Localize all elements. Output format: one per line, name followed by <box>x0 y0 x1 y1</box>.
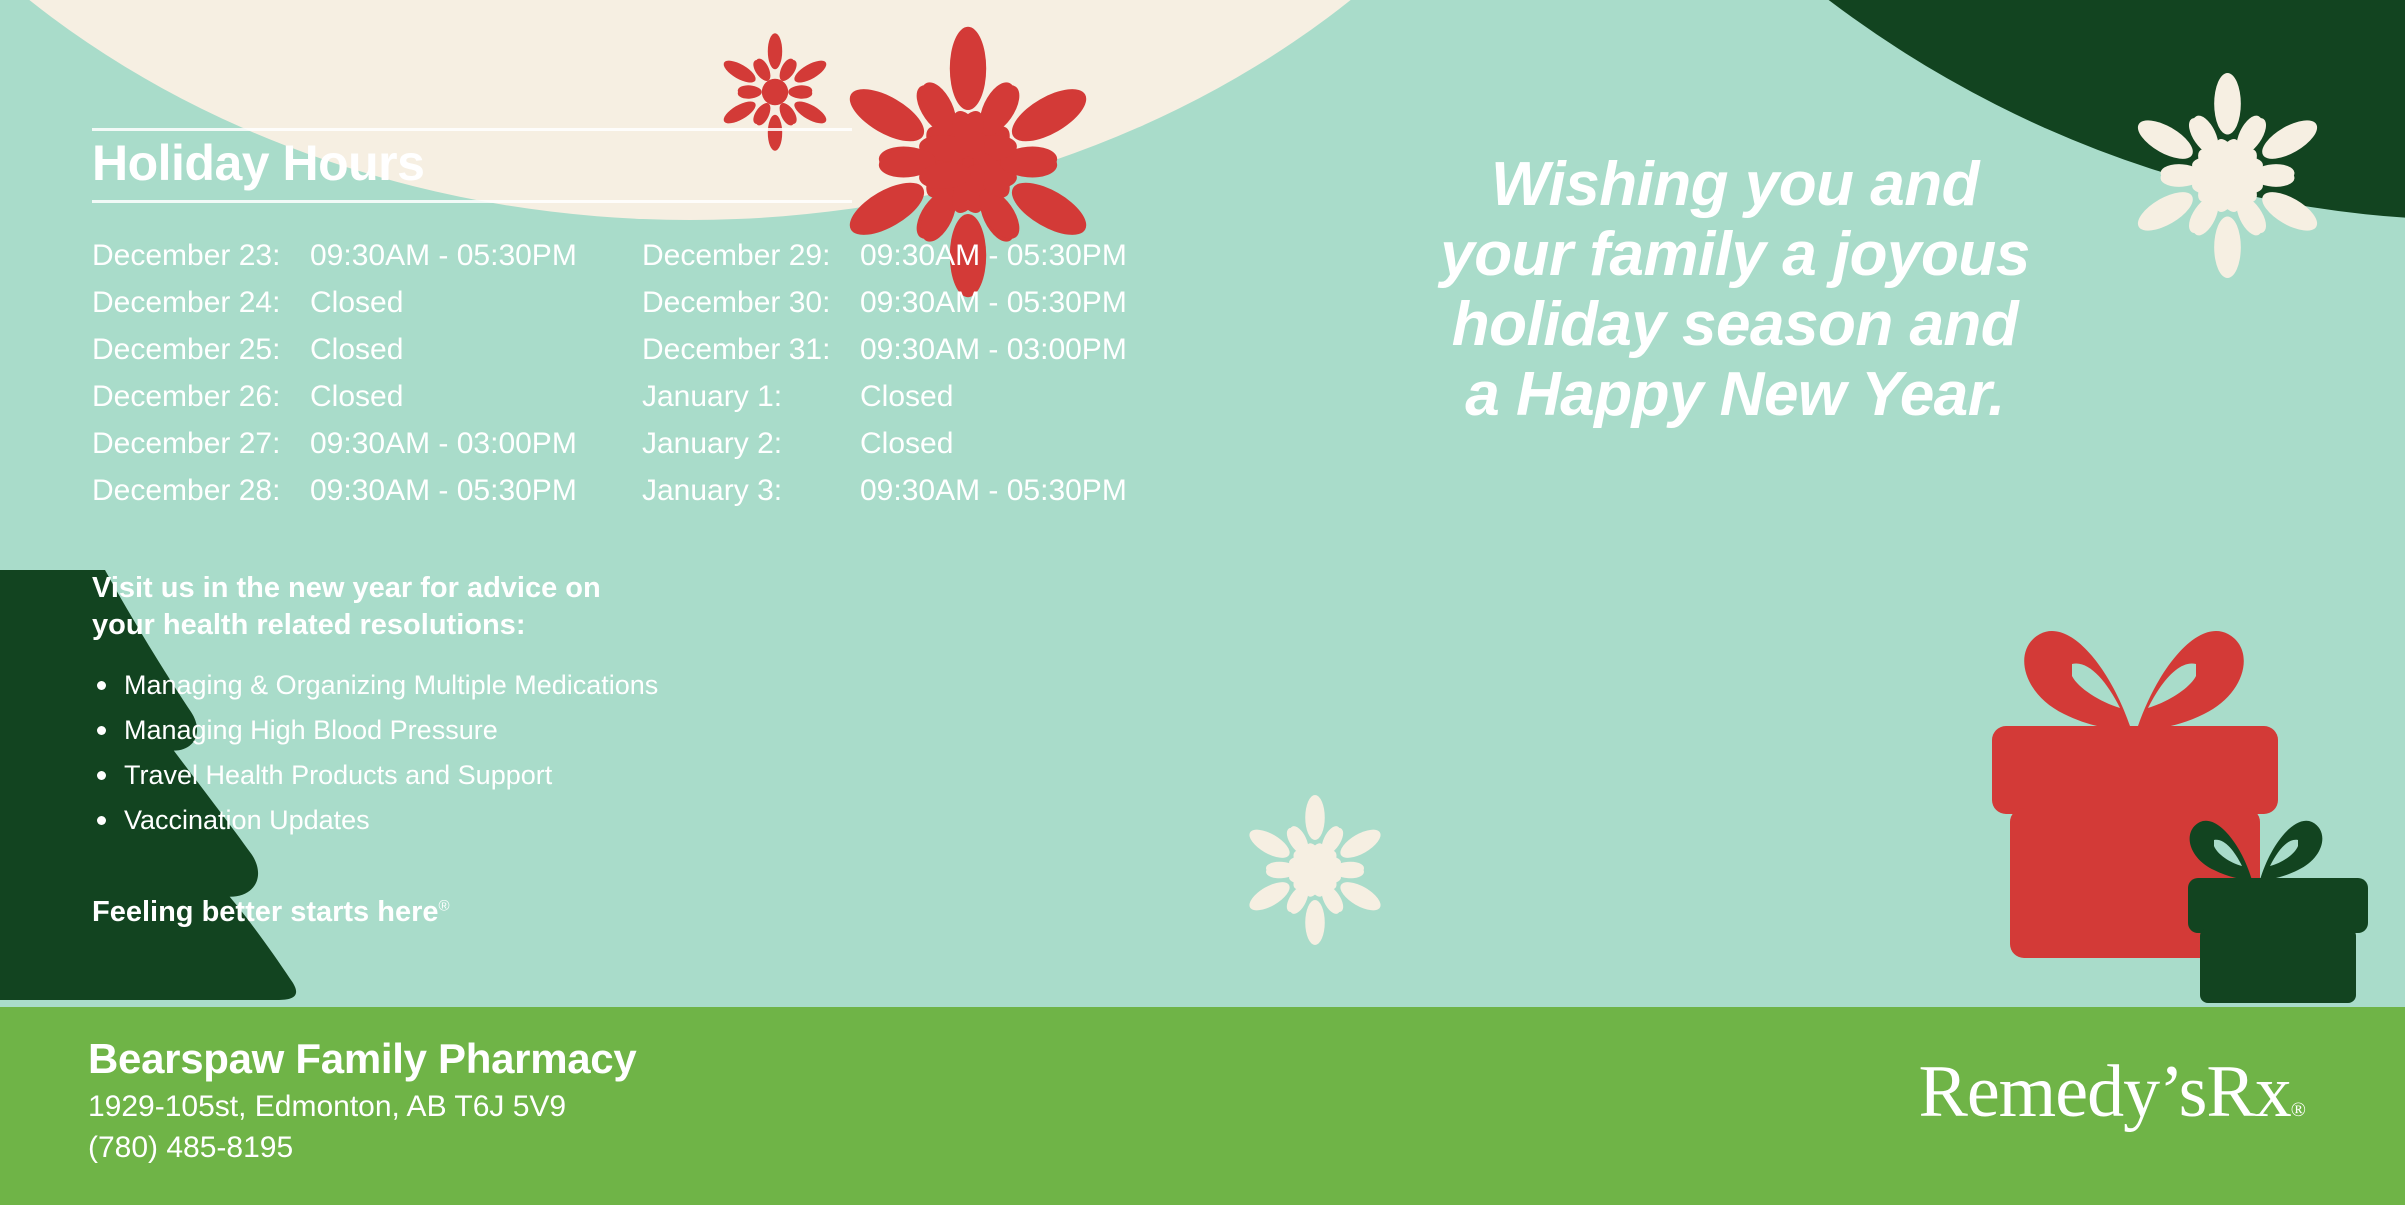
resolutions-heading-line2: your health related resolutions: <box>92 607 732 644</box>
hours-time-value: 09:30AM - 05:30PM <box>310 241 577 271</box>
hours-day-label: December 25: <box>92 335 310 365</box>
hours-rule-top <box>92 128 852 131</box>
hours-day-label: December 23: <box>92 241 310 271</box>
hours-time-value: 09:30AM - 03:00PM <box>860 335 1127 365</box>
list-item-label: Managing High Blood Pressure <box>124 715 498 745</box>
list-item-label: Managing & Organizing Multiple Medicatio… <box>124 670 658 700</box>
brand-name: Remedy’sRx <box>1918 1051 2290 1133</box>
holiday-hours-section: Holiday Hours December 23: 09:30AM - 05:… <box>92 128 1152 523</box>
hours-row: December 31: 09:30AM - 03:00PM <box>642 335 1152 365</box>
bullet-icon <box>97 726 106 735</box>
holiday-banner: Holiday Hours December 23: 09:30AM - 05:… <box>0 0 2405 1205</box>
hours-time-value: 09:30AM - 05:30PM <box>860 476 1127 506</box>
list-item-label: Travel Health Products and Support <box>124 760 552 790</box>
hours-row: December 28: 09:30AM - 05:30PM <box>92 476 602 506</box>
pharmacy-info: Bearspaw Family Pharmacy 1929-105st, Edm… <box>88 1032 636 1169</box>
hours-day-label: December 28: <box>92 476 310 506</box>
hours-time-value: Closed <box>310 382 403 412</box>
hours-time-value: 09:30AM - 05:30PM <box>860 241 1127 271</box>
hours-time-value: 09:30AM - 05:30PM <box>310 476 577 506</box>
registered-mark: ® <box>439 898 450 915</box>
hours-column-left: December 23: 09:30AM - 05:30PM December … <box>92 241 602 523</box>
hours-time-value: Closed <box>310 288 403 318</box>
page-title: Holiday Hours <box>92 131 1152 194</box>
hours-time-value: Closed <box>860 429 953 459</box>
tagline-text: Feeling better starts here <box>92 896 439 928</box>
hours-day-label: December 29: <box>642 241 860 271</box>
greeting-line2: your family a joyous <box>1300 220 2170 290</box>
hours-rule-bottom <box>92 200 852 203</box>
list-item: Travel Health Products and Support <box>92 762 852 789</box>
hours-row: December 23: 09:30AM - 05:30PM <box>92 241 602 271</box>
bullet-icon <box>97 816 106 825</box>
list-item: Vaccination Updates <box>92 807 852 834</box>
hours-day-label: January 2: <box>642 429 860 459</box>
hours-day-label: December 26: <box>92 382 310 412</box>
hours-row: December 26: Closed <box>92 382 602 412</box>
hours-row: December 24: Closed <box>92 288 602 318</box>
resolutions-list: Managing & Organizing Multiple Medicatio… <box>92 672 852 834</box>
hours-time-value: Closed <box>860 382 953 412</box>
hours-row: January 3: 09:30AM - 05:30PM <box>642 476 1152 506</box>
hours-row: January 1: Closed <box>642 382 1152 412</box>
pharmacy-name: Bearspaw Family Pharmacy <box>88 1032 636 1086</box>
hours-row: January 2: Closed <box>642 429 1152 459</box>
bullet-icon <box>97 681 106 690</box>
hours-day-label: December 27: <box>92 429 310 459</box>
pharmacy-phone: (780) 485-8195 <box>88 1127 636 1168</box>
greeting-message: Wishing you and your family a joyous hol… <box>1300 150 2170 430</box>
list-item-label: Vaccination Updates <box>124 805 370 835</box>
greeting-line3: holiday season and <box>1300 290 2170 360</box>
greeting-line1: Wishing you and <box>1300 150 2170 220</box>
hours-time-value: 09:30AM - 03:00PM <box>310 429 577 459</box>
list-item: Managing High Blood Pressure <box>92 717 852 744</box>
resolutions-section: Visit us in the new year for advice on y… <box>92 570 852 929</box>
hours-time-value: 09:30AM - 05:30PM <box>860 288 1127 318</box>
hours-column-right: December 29: 09:30AM - 05:30PM December … <box>642 241 1152 523</box>
footer-bar: Bearspaw Family Pharmacy 1929-105st, Edm… <box>0 1007 2405 1205</box>
greeting-line4: a Happy New Year. <box>1300 360 2170 430</box>
hours-row: December 25: Closed <box>92 335 602 365</box>
bullet-icon <box>97 771 106 780</box>
resolutions-heading: Visit us in the new year for advice on y… <box>92 570 732 644</box>
hours-row: December 30: 09:30AM - 05:30PM <box>642 288 1152 318</box>
snowflake-icon <box>1240 790 1390 950</box>
hours-time-value: Closed <box>310 335 403 365</box>
registered-mark: ® <box>2291 1099 2305 1121</box>
gift-icon <box>2188 821 2368 1003</box>
hours-day-label: January 3: <box>642 476 860 506</box>
pharmacy-address: 1929-105st, Edmonton, AB T6J 5V9 <box>88 1086 636 1127</box>
hours-day-label: January 1: <box>642 382 860 412</box>
list-item: Managing & Organizing Multiple Medicatio… <box>92 672 852 699</box>
hours-day-label: December 24: <box>92 288 310 318</box>
hours-row: December 29: 09:30AM - 05:30PM <box>642 241 1152 271</box>
remedysrx-logo: Remedy’sRx® <box>1918 1055 2305 1129</box>
hours-row: December 27: 09:30AM - 03:00PM <box>92 429 602 459</box>
tagline: Feeling better starts here® <box>92 896 852 929</box>
hours-day-label: December 30: <box>642 288 860 318</box>
hours-day-label: December 31: <box>642 335 860 365</box>
gift-boxes-illustration <box>1960 608 2380 1003</box>
resolutions-heading-line1: Visit us in the new year for advice on <box>92 570 732 607</box>
hours-grid: December 23: 09:30AM - 05:30PM December … <box>92 241 1152 523</box>
